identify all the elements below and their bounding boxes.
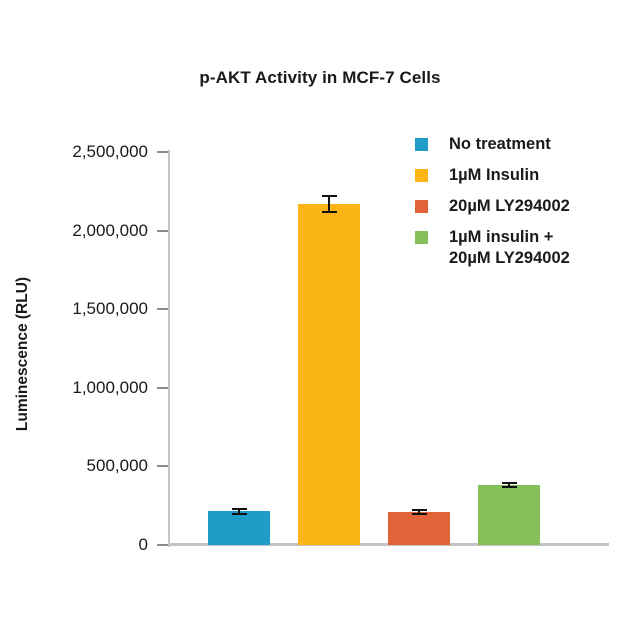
y-tick-mark [157,230,168,232]
y-tick-mark [157,151,168,153]
y-tick-label: 2,000,000 [72,222,148,239]
chart-container: p-AKT Activity in MCF-7 Cells Luminescen… [0,0,640,630]
chart-title: p-AKT Activity in MCF-7 Cells [0,68,640,88]
error-bar-cap-upper [322,195,337,197]
legend-swatch-icon [415,231,428,244]
legend-swatch-icon [415,200,428,213]
error-bar-cap-upper [502,482,517,484]
legend-item-label: No treatment [449,134,551,155]
y-tick-mark [157,544,168,546]
error-bar-cap-lower [412,513,427,515]
legend-swatch-icon [415,138,428,151]
error-bar-cap-lower [232,513,247,515]
y-tick-mark [157,387,168,389]
error-bar-cap-upper [232,508,247,510]
bar[interactable] [298,204,360,545]
bar[interactable] [208,511,270,545]
y-tick-mark [157,465,168,467]
y-tick-label: 1,000,000 [72,379,148,396]
y-tick-label: 1,500,000 [72,300,148,317]
legend-item[interactable]: 20µM LY294002 [415,196,637,217]
legend-item-label: 20µM LY294002 [449,196,570,217]
y-tick-label: 500,000 [87,457,148,474]
legend-swatch-icon [415,169,428,182]
bar[interactable] [478,485,540,545]
y-tick-label: 2,500,000 [72,143,148,160]
y-tick-mark [157,308,168,310]
legend-item[interactable]: 1µM Insulin [415,165,637,186]
chart-legend: No treatment1µM Insulin20µM LY2940021µM … [415,134,637,280]
y-axis-label: Luminescence (RLU) [14,239,32,469]
bar[interactable] [388,512,450,545]
legend-item-label: 1µM Insulin [449,165,539,186]
legend-item[interactable]: 1µM insulin + 20µM LY294002 [415,227,637,269]
y-tick-label: 0 [139,536,148,553]
error-bar-cap-upper [412,509,427,511]
error-bar-cap-lower [502,486,517,488]
legend-item-label: 1µM insulin + 20µM LY294002 [449,227,570,269]
error-bar-cap-lower [322,211,337,213]
legend-item[interactable]: No treatment [415,134,637,155]
